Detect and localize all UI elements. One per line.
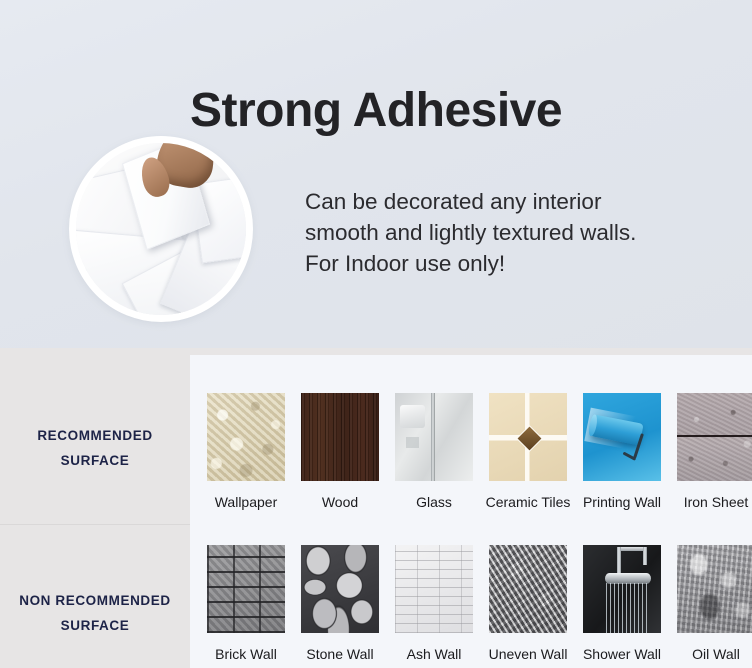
surface-item-oil-wall[interactable]: Oil Wall xyxy=(677,545,752,662)
surface-item-wallpaper[interactable]: Wallpaper xyxy=(207,393,285,510)
non-recommended-surface-label: NON RECOMMENDED SURFACE xyxy=(0,588,190,638)
wood-thumbnail xyxy=(301,393,379,481)
non-recommended-label-line-1: NON RECOMMENDED xyxy=(0,588,190,613)
recommended-surface-row: Wallpaper Wood Glass xyxy=(190,393,752,543)
oil-wall-thumbnail xyxy=(677,545,752,633)
surface-label-column: RECOMMENDED SURFACE NON RECOMMENDED SURF… xyxy=(0,348,190,668)
surface-item-label: Ash Wall xyxy=(407,646,462,662)
surface-item-label: Printing Wall xyxy=(583,494,661,510)
surface-item-glass[interactable]: Glass xyxy=(395,393,473,510)
oil-wall-texture-icon xyxy=(677,545,752,633)
hero-description-line-3: For Indoor use only! xyxy=(305,248,735,279)
printing-wall-roller-icon xyxy=(583,393,661,481)
surface-item-label: Ceramic Tiles xyxy=(486,494,571,510)
surface-item-label: Iron Sheet xyxy=(684,494,749,510)
wood-texture-icon xyxy=(301,393,379,481)
uneven-wall-texture-icon xyxy=(489,545,567,633)
surface-item-label: Uneven Wall xyxy=(489,646,568,662)
surfaces-section: RECOMMENDED SURFACE NON RECOMMENDED SURF… xyxy=(0,348,752,668)
water-stream-icon xyxy=(606,583,650,633)
hero-description-line-2: smooth and lightly textured walls. xyxy=(305,217,735,248)
recommended-label-line-1: RECOMMENDED xyxy=(0,423,190,448)
hand-peeling-adhesive-tile-icon xyxy=(76,143,246,315)
label-row-divider xyxy=(0,524,190,525)
shower-wall-texture-icon xyxy=(583,545,661,633)
ceramic-tiles-texture-icon xyxy=(489,393,567,481)
adhesive-photo xyxy=(72,139,250,319)
non-recommended-label-line-2: SURFACE xyxy=(0,613,190,638)
hero-section: Strong Adhesive Can be decorated any int… xyxy=(0,0,752,350)
printing-wall-thumbnail xyxy=(583,393,661,481)
promo-banner: Strong Adhesive Can be decorated any int… xyxy=(0,0,752,668)
recommended-label-line-2: SURFACE xyxy=(0,448,190,473)
surface-item-label: Brick Wall xyxy=(215,646,277,662)
shower-pipe-icon xyxy=(617,547,621,573)
wallpaper-thumbnail xyxy=(207,393,285,481)
surface-item-label: Glass xyxy=(416,494,452,510)
ash-wall-thumbnail xyxy=(395,545,473,633)
surface-item-ceramic-tiles[interactable]: Ceramic Tiles xyxy=(489,393,567,510)
wallpaper-texture-icon xyxy=(207,393,285,481)
iron-sheet-thumbnail xyxy=(677,393,752,481)
page-title: Strong Adhesive xyxy=(0,84,752,138)
ceramic-tiles-thumbnail xyxy=(489,393,567,481)
stone-wall-thumbnail xyxy=(301,545,379,633)
hero-description-line-1: Can be decorated any interior xyxy=(305,186,735,217)
brick-wall-thumbnail xyxy=(207,545,285,633)
shower-arm-drop-icon xyxy=(643,547,647,565)
hero-description: Can be decorated any interior smooth and… xyxy=(305,186,735,279)
surface-item-ash-wall[interactable]: Ash Wall xyxy=(395,545,473,662)
surface-item-uneven-wall[interactable]: Uneven Wall xyxy=(489,545,567,662)
surface-item-label: Wood xyxy=(322,494,358,510)
surface-item-stone-wall[interactable]: Stone Wall xyxy=(301,545,379,662)
glass-texture-icon xyxy=(395,393,473,481)
iron-sheet-texture-icon xyxy=(677,393,752,481)
non-recommended-surface-row: Brick Wall Stone Wall Ash Wall xyxy=(190,545,752,668)
recommended-surface-label: RECOMMENDED SURFACE xyxy=(0,423,190,473)
surface-item-iron-sheet[interactable]: Iron Sheet xyxy=(677,393,752,510)
surface-grid-panel: Wallpaper Wood Glass xyxy=(190,355,752,668)
surface-item-shower-wall[interactable]: Shower Wall xyxy=(583,545,661,662)
surface-item-label: Stone Wall xyxy=(306,646,373,662)
glass-thumbnail xyxy=(395,393,473,481)
surface-item-wood[interactable]: Wood xyxy=(301,393,379,510)
uneven-wall-thumbnail xyxy=(489,545,567,633)
surface-item-brick-wall[interactable]: Brick Wall xyxy=(207,545,285,662)
surface-item-label: Oil Wall xyxy=(692,646,740,662)
stone-wall-texture-icon xyxy=(301,545,379,633)
brick-wall-texture-icon xyxy=(207,545,285,633)
ash-wall-texture-icon xyxy=(395,545,473,633)
surface-item-label: Wallpaper xyxy=(215,494,278,510)
shower-wall-thumbnail xyxy=(583,545,661,633)
surface-item-label: Shower Wall xyxy=(583,646,661,662)
adhesive-photo-frame xyxy=(76,143,246,315)
surface-item-printing-wall[interactable]: Printing Wall xyxy=(583,393,661,510)
tile-diamond-accent-icon xyxy=(516,425,543,452)
